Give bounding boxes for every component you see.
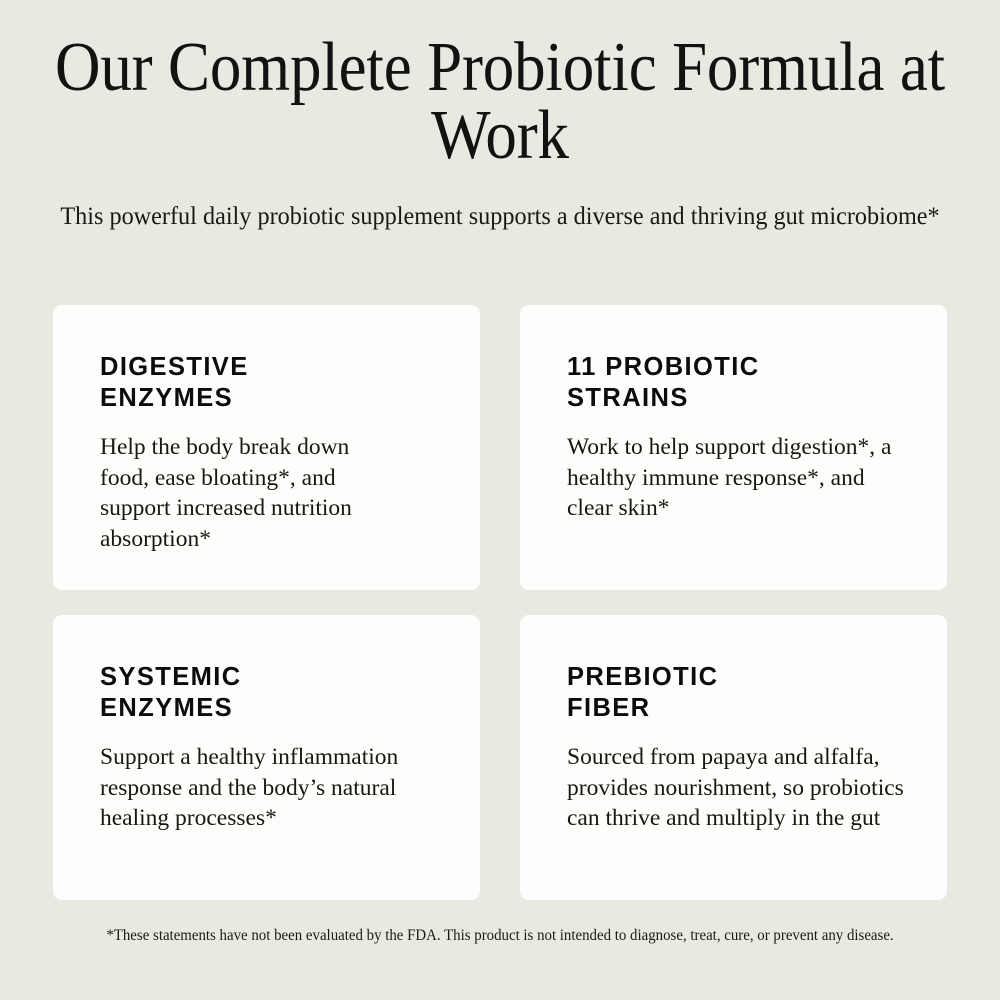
fda-disclaimer: *These statements have not been evaluate… <box>20 925 980 947</box>
probiotic-formula-infographic: Our Complete Probiotic Formula at Work T… <box>0 0 1000 1000</box>
card-heading: Digestive Enzymes <box>100 352 299 414</box>
benefit-card-systemic-enzymes: Systemic Enzymes Support a healthy infla… <box>53 615 480 900</box>
card-body: Help the body break down food, ease bloa… <box>100 414 400 554</box>
card-heading: Systemic Enzymes <box>100 662 299 724</box>
footer: *These statements have not been evaluate… <box>0 925 1000 947</box>
card-body: Work to help support digestion*, a healt… <box>567 414 907 524</box>
benefit-card-probiotic-strains: 11 Probiotic Strains Work to help suppor… <box>520 305 947 590</box>
benefit-card-digestive-enzymes: Digestive Enzymes Help the body break do… <box>53 305 480 590</box>
page-title: Our Complete Probiotic Formula at Work <box>50 34 950 170</box>
benefit-card-grid: Digestive Enzymes Help the body break do… <box>53 305 947 900</box>
card-body: Support a healthy inflammation response … <box>100 724 400 834</box>
page-subtitle: This powerful daily probiotic supplement… <box>25 170 975 233</box>
card-heading: 11 Probiotic Strains <box>567 352 766 414</box>
benefit-card-prebiotic-fiber: Prebiotic Fiber Sourced from papaya and … <box>520 615 947 900</box>
card-body: Sourced from papaya and alfalfa, provide… <box>567 724 907 834</box>
header: Our Complete Probiotic Formula at Work T… <box>0 34 1000 232</box>
card-heading: Prebiotic Fiber <box>567 662 766 724</box>
